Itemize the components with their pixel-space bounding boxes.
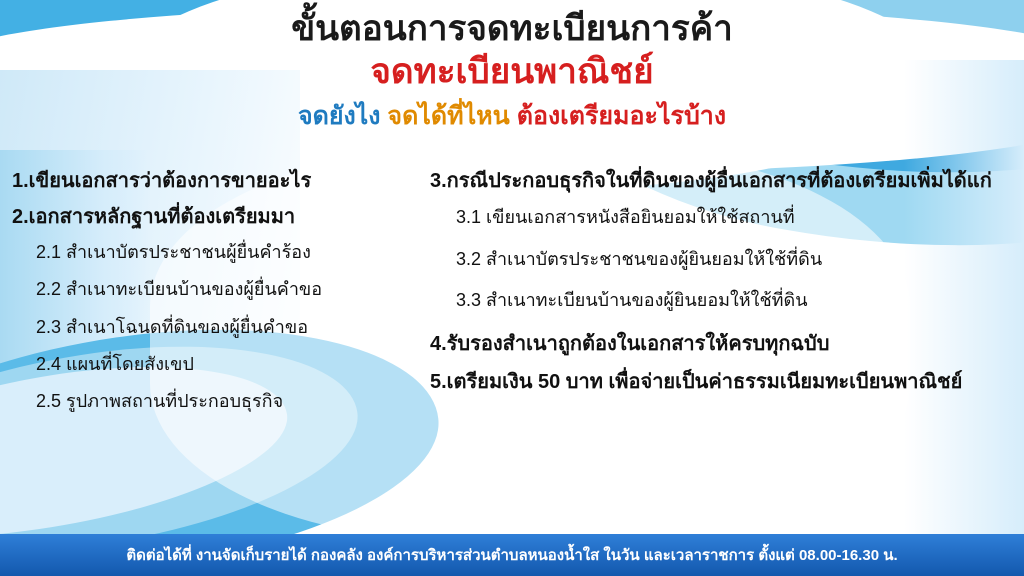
list-item: 2.เอกสารหลักฐานที่ต้องเตรียมมา — [12, 204, 422, 230]
list-item: 3.1 เขียนเอกสารหนังสือยินยอมให้ใช้สถานที… — [456, 206, 1018, 229]
page-title: ขั้นตอนการจดทะเบียนการค้า — [0, 8, 1024, 49]
list-item: 2.1 สำเนาบัตรประชาชนผู้ยื่นคำร้อง — [36, 241, 422, 264]
list-item: 1.เขียนเอกสารว่าต้องการขายอะไร — [12, 168, 422, 194]
list-item: 2.5 รูปภาพสถานที่ประกอบธุรกิจ — [36, 390, 422, 413]
page-tagline: จดยังไง จดได้ที่ไหน ต้องเตรียมอะไรบ้าง — [0, 101, 1024, 131]
footer-contact-text: ติดต่อได้ที่ งานจัดเก็บรายได้ กองคลัง อง… — [126, 543, 897, 567]
tagline-part-2: จดได้ที่ไหน — [387, 102, 509, 130]
list-item: 3.2 สำเนาบัตรประชาชนของผู้ยินยอมให้ใช้ที… — [456, 248, 1018, 271]
tagline-part-1: จดยังไง — [298, 102, 381, 130]
footer-bar: ติดต่อได้ที่ งานจัดเก็บรายได้ กองคลัง อง… — [0, 534, 1024, 576]
list-item: 5.เตรียมเงิน 50 บาท เพื่อจ่ายเป็นค่าธรรม… — [430, 369, 1018, 395]
list-item: 2.4 แผนที่โดยสังเขป — [36, 353, 422, 376]
title-block: ขั้นตอนการจดทะเบียนการค้า จดทะเบียนพาณิช… — [0, 8, 1024, 131]
list-item: 2.2 สำเนาทะเบียนบ้านของผู้ยื่นคำขอ — [36, 278, 422, 301]
slide-canvas: ขั้นตอนการจดทะเบียนการค้า จดทะเบียนพาณิช… — [0, 0, 1024, 576]
left-content-column: 1.เขียนเอกสารว่าต้องการขายอะไร 2.เอกสารห… — [12, 168, 422, 428]
list-item: 3.กรณีประกอบธุรกิจในที่ดินของผู้อื่นเอกส… — [430, 168, 1018, 194]
content-columns: 1.เขียนเอกสารว่าต้องการขายอะไร 2.เอกสารห… — [0, 168, 1024, 528]
page-subtitle: จดทะเบียนพาณิชย์ — [0, 51, 1024, 93]
list-item: 3.3 สำเนาทะเบียนบ้านของผู้ยินยอมให้ใช้ที… — [456, 289, 1018, 312]
tagline-part-3: ต้องเตรียมอะไรบ้าง — [517, 102, 726, 130]
right-content-column: 3.กรณีประกอบธุรกิจในที่ดินของผู้อื่นเอกส… — [430, 168, 1018, 407]
list-item: 2.3 สำเนาโฉนดที่ดินของผู้ยื่นคำขอ — [36, 316, 422, 339]
list-item: 4.รับรองสำเนาถูกต้องในเอกสารให้ครบทุกฉบั… — [430, 331, 1018, 357]
